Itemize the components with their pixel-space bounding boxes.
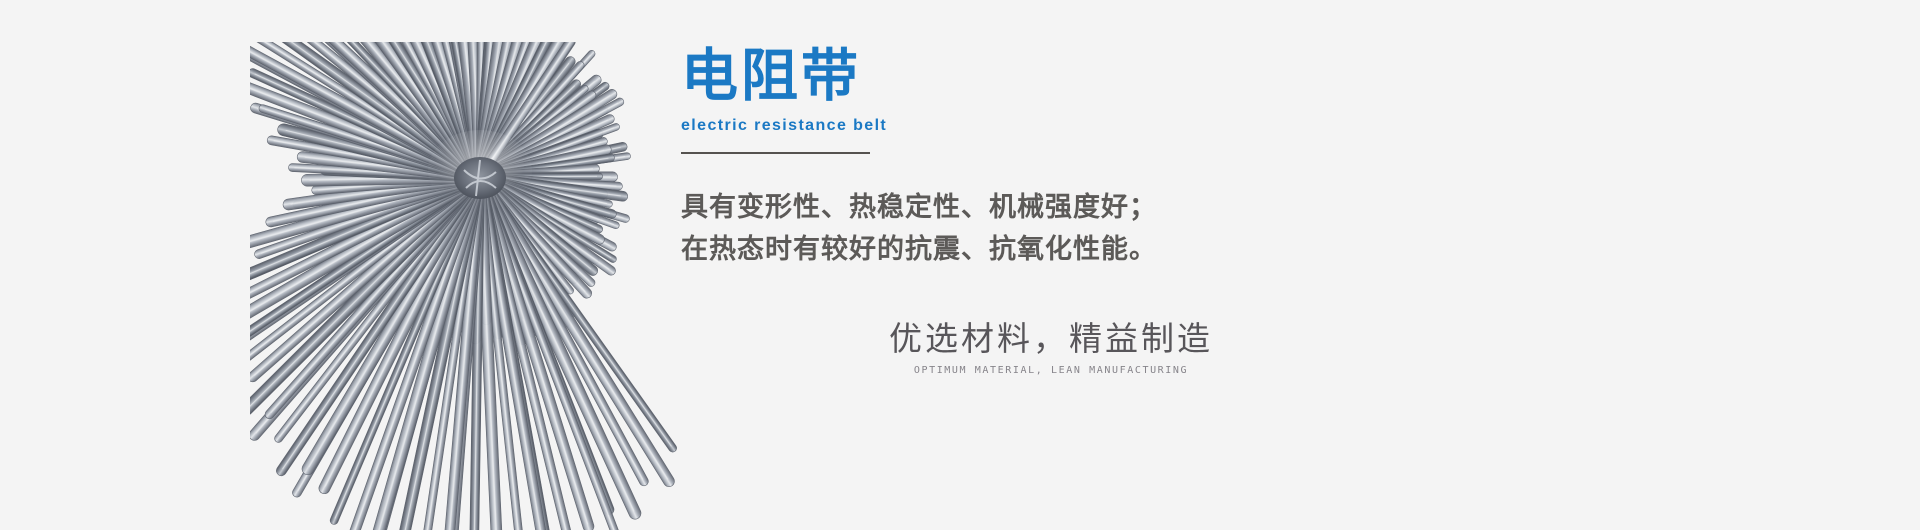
product-banner: 电阻带 electric resistance belt 具有变形性、热稳定性、… (0, 0, 1920, 530)
page-title: 电阻带 (681, 46, 887, 106)
product-description: 具有变形性、热稳定性、机械强度好； 在热态时有较好的抗震、抗氧化性能。 (681, 187, 1157, 271)
tagline-english: OPTIMUM MATERIAL, LEAN MANUFACTURING (781, 364, 1321, 378)
description-line-1: 具有变形性、热稳定性、机械强度好； (681, 187, 1157, 229)
title-divider (681, 152, 870, 154)
page-subtitle: electric resistance belt (681, 117, 887, 135)
tagline-block: 优选材料，精益制造 OPTIMUM MATERIAL, LEAN MANUFAC… (781, 318, 1321, 378)
resistance-belt-coil-photo (250, 42, 710, 530)
belt-loops-lower (250, 42, 685, 530)
heading-block: 电阻带 electric resistance belt (681, 46, 887, 154)
text-column: 电阻带 electric resistance belt 具有变形性、热稳定性、… (681, 0, 1781, 530)
product-image-figure (250, 42, 710, 530)
description-line-2: 在热态时有较好的抗震、抗氧化性能。 (681, 229, 1157, 271)
tagline-chinese: 优选材料，精益制造 (781, 318, 1321, 360)
